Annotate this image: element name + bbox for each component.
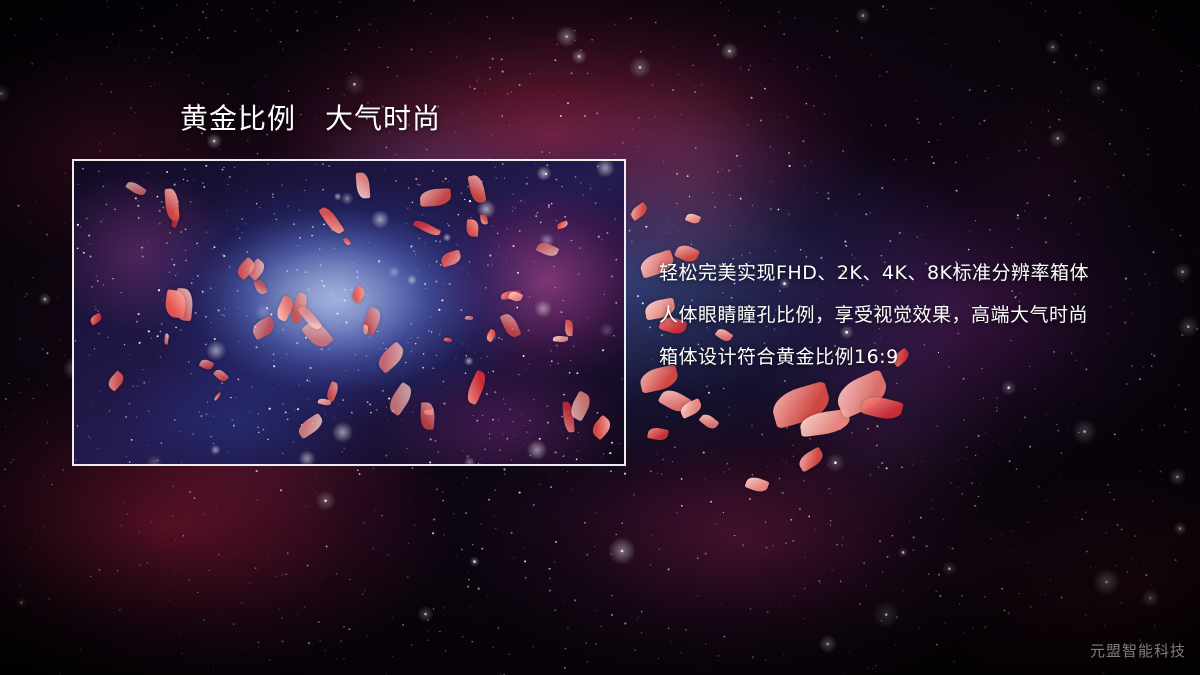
framed-image bbox=[72, 159, 626, 466]
petal bbox=[464, 370, 489, 405]
petal bbox=[444, 337, 453, 343]
petal bbox=[288, 292, 310, 324]
petal bbox=[297, 304, 322, 332]
petal bbox=[485, 329, 497, 343]
petal bbox=[125, 179, 147, 197]
petal bbox=[325, 381, 340, 402]
petal bbox=[317, 397, 331, 406]
petal bbox=[480, 214, 488, 225]
petal bbox=[343, 237, 351, 246]
petal bbox=[440, 249, 463, 267]
petal bbox=[420, 188, 452, 207]
petal bbox=[164, 333, 170, 345]
petal bbox=[295, 413, 325, 439]
petal bbox=[385, 382, 416, 417]
petal bbox=[164, 289, 188, 319]
petal bbox=[420, 402, 435, 430]
presentation-slide: 黄金比例 大气时尚 轻松完美实现FHD、2K、4K、8K标准分辨率箱体 人体眼睛… bbox=[0, 0, 1200, 675]
petal bbox=[508, 290, 523, 303]
petal bbox=[213, 392, 221, 401]
petal bbox=[536, 240, 560, 259]
petal bbox=[413, 218, 441, 238]
petal bbox=[213, 367, 229, 383]
petal bbox=[499, 311, 521, 339]
petal bbox=[245, 258, 267, 281]
petal bbox=[170, 210, 181, 228]
petal bbox=[589, 415, 614, 441]
petal bbox=[466, 219, 479, 237]
petal bbox=[553, 335, 569, 343]
petal bbox=[362, 325, 369, 335]
petal bbox=[567, 390, 594, 421]
body-line-3: 箱体设计符合黄金比例16:9 bbox=[659, 336, 1129, 378]
petal bbox=[374, 341, 408, 374]
petal bbox=[89, 313, 103, 326]
petal bbox=[350, 285, 368, 304]
petal bbox=[360, 306, 384, 335]
petal bbox=[356, 172, 371, 199]
petal bbox=[164, 188, 179, 221]
body-line-2: 人体眼睛瞳孔比例，享受视觉效果，高端大气时尚 bbox=[659, 294, 1129, 336]
body-text-block: 轻松完美实现FHD、2K、4K、8K标准分辨率箱体 人体眼睛瞳孔比例，享受视觉效… bbox=[659, 252, 1129, 378]
petal bbox=[301, 317, 334, 351]
petal bbox=[199, 358, 215, 372]
petal bbox=[465, 315, 474, 320]
inner-petals bbox=[74, 161, 624, 464]
petal bbox=[234, 257, 257, 280]
petal bbox=[556, 220, 568, 229]
petal bbox=[274, 295, 296, 322]
petal bbox=[105, 370, 126, 391]
petal bbox=[253, 278, 268, 296]
page-title: 黄金比例 大气时尚 bbox=[180, 102, 441, 136]
body-line-1: 轻松完美实现FHD、2K、4K、8K标准分辨率箱体 bbox=[659, 252, 1129, 294]
watermark: 元盟智能科技 bbox=[1090, 640, 1186, 661]
petal bbox=[562, 401, 575, 433]
petal bbox=[501, 290, 522, 300]
petal bbox=[174, 288, 194, 321]
petal bbox=[423, 408, 433, 416]
petal bbox=[318, 205, 344, 237]
petal bbox=[564, 320, 573, 337]
petal bbox=[467, 174, 486, 204]
petal bbox=[250, 316, 278, 341]
